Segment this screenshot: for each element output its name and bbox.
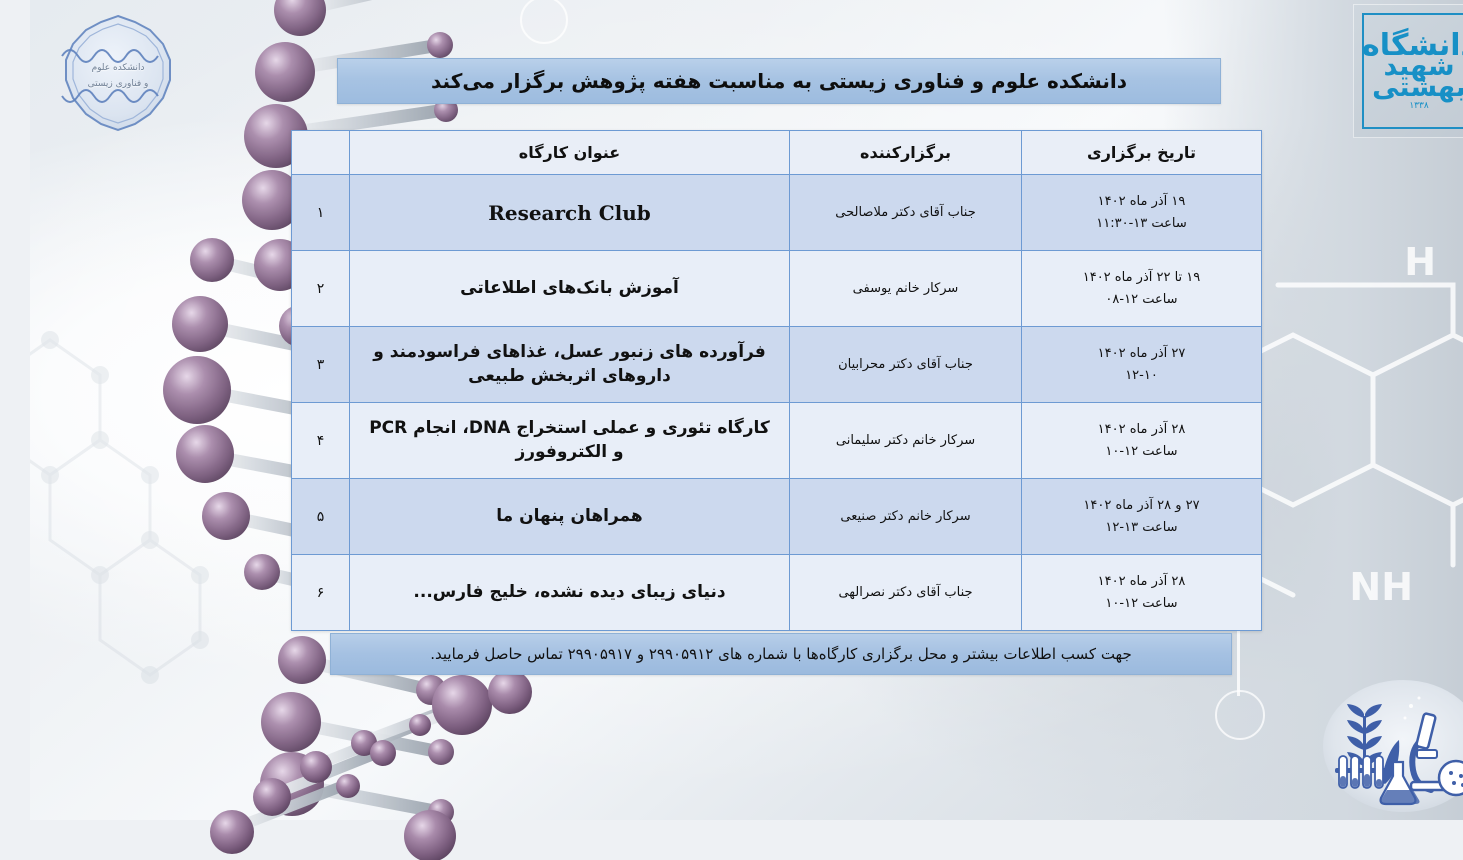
date-line-2: ساعت ۱۳-۱۱:۳۰: [1000, 213, 1223, 234]
cell-date: ۲۷ آذر ماه ۱۴۰۲ ۱۲-۱۰: [992, 327, 1232, 403]
faculty-seal-text: دانشکده علوم و فناوری زیستی: [14, 10, 162, 142]
cell-index: ۳: [262, 327, 320, 403]
contact-footer-banner: جهت کسب اطلاعات بیشتر و محل برگزاری کارگ…: [300, 633, 1202, 675]
cell-date: ۱۹ آذر ماه ۱۴۰۲ ساعت ۱۳-۱۱:۳۰: [992, 175, 1232, 251]
cell-date: ۲۷ و ۲۸ آذر ماه ۱۴۰۲ ساعت ۱۳-۱۲: [992, 479, 1232, 555]
column-header-date: تاریخ برگزاری: [992, 131, 1232, 175]
svg-text:NH: NH: [1319, 565, 1383, 609]
contact-footer-text: جهت کسب اطلاعات بیشتر و محل برگزاری کارگ…: [400, 645, 1102, 663]
cell-organizer: جناب آقای دکتر محرابیان: [760, 327, 992, 403]
cell-organizer: جناب آقای دکتر نصرالهی: [760, 555, 992, 631]
cell-organizer: جناب آقای دکتر ملاصالحی: [760, 175, 992, 251]
table-row: ۲۸ آذر ماه ۱۴۰۲ ساعت ۱۲-۱۰ سرکار خانم دک…: [262, 403, 1232, 479]
column-header-index: [262, 131, 320, 175]
table-row: ۲۸ آذر ماه ۱۴۰۲ ساعت ۱۲-۱۰ جناب آقای دکت…: [262, 555, 1232, 631]
title-banner-text: دانشکده علوم و فناوری زیستی به مناسبت هف…: [401, 69, 1097, 93]
cell-title: دنیای زیبای دیده نشده، خلیج فارس...: [320, 555, 760, 631]
date-line-1: ۱۹ تا ۲۲ آذر ماه ۱۴۰۲: [1053, 270, 1171, 285]
cell-organizer: سرکار خانم یوسفی: [760, 251, 992, 327]
title-banner: دانشکده علوم و فناوری زیستی به مناسبت هف…: [307, 58, 1191, 104]
faint-ring-decoration: [1185, 690, 1235, 740]
workshop-schedule-table-wrapper: تاریخ برگزاری برگزارکننده عنوان کارگاه ۱…: [262, 130, 1232, 631]
date-line-2: ۱۲-۱۰: [1000, 365, 1223, 386]
faculty-seal-line2: و فناوری زیستی: [58, 79, 119, 89]
date-line-1: ۲۸ آذر ماه ۱۴۰۲: [1068, 574, 1156, 589]
date-line-1: ۲۸ آذر ماه ۱۴۰۲: [1068, 422, 1156, 437]
column-header-organizer: برگزارکننده: [760, 131, 992, 175]
university-logo: دانشگاه شهید بهشتی ۱۳۳۸: [1323, 4, 1455, 138]
university-logo-year: ۱۳۳۸: [1379, 102, 1398, 110]
cell-title: همراهان پنهان ما: [320, 479, 760, 555]
table-header-row: تاریخ برگزاری برگزارکننده عنوان کارگاه: [262, 131, 1232, 175]
cell-organizer: سرکار خانم دکتر سلیمانی: [760, 403, 992, 479]
date-line-2: ساعت ۱۲-۰۸: [1000, 289, 1223, 310]
table-row: ۲۷ آذر ماه ۱۴۰۲ ۱۲-۱۰ جناب آقای دکتر محر…: [262, 327, 1232, 403]
faculty-seal: دانشکده علوم و فناوری زیستی: [14, 10, 162, 142]
column-header-title: عنوان کارگاه: [320, 131, 760, 175]
cell-title: Research Club: [320, 175, 760, 251]
science-illustration: [1289, 678, 1457, 814]
university-logo-text: دانشگاه شهید بهشتی ۱۳۳۸: [1332, 32, 1446, 111]
cell-title: فرآورده های زنبور عسل، غذاهای فراسودمند …: [320, 327, 760, 403]
date-line-2: ساعت ۱۳-۱۲: [1000, 517, 1223, 538]
date-line-2: ساعت ۱۲-۱۰: [1000, 441, 1223, 462]
date-line-1: ۲۷ آذر ماه ۱۴۰۲: [1068, 346, 1156, 361]
cell-title: آموزش بانک‌های اطلاعاتی: [320, 251, 760, 327]
cell-index: ۱: [262, 175, 320, 251]
date-line-2: ساعت ۱۲-۱۰: [1000, 593, 1223, 614]
cell-index: ۲: [262, 251, 320, 327]
table-header: تاریخ برگزاری برگزارکننده عنوان کارگاه: [262, 131, 1232, 175]
date-line-1: ۱۹ آذر ماه ۱۴۰۲: [1068, 194, 1156, 209]
workshop-schedule-table: تاریخ برگزاری برگزارکننده عنوان کارگاه ۱…: [261, 130, 1232, 631]
cell-date: ۲۸ آذر ماه ۱۴۰۲ ساعت ۱۲-۱۰: [992, 403, 1232, 479]
date-line-1: ۲۷ و ۲۸ آذر ماه ۱۴۰۲: [1053, 498, 1169, 513]
cell-date: ۲۸ آذر ماه ۱۴۰۲ ساعت ۱۲-۱۰: [992, 555, 1232, 631]
cell-index: ۴: [262, 403, 320, 479]
cell-date: ۱۹ تا ۲۲ آذر ماه ۱۴۰۲ ساعت ۱۲-۰۸: [992, 251, 1232, 327]
cell-index: ۵: [262, 479, 320, 555]
cell-title: کارگاه تئوری و عملی استخراج DNA، انجام P…: [320, 403, 760, 479]
faculty-seal-line1: دانشکده علوم: [62, 63, 115, 73]
university-logo-line3: بهشتی: [1342, 76, 1436, 101]
table-row: ۱۹ آذر ماه ۱۴۰۲ ساعت ۱۳-۱۱:۳۰ جناب آقای …: [262, 175, 1232, 251]
table-body: ۱۹ آذر ماه ۱۴۰۲ ساعت ۱۳-۱۱:۳۰ جناب آقای …: [262, 175, 1232, 631]
university-logo-frame: دانشگاه شهید بهشتی ۱۳۳۸: [1332, 13, 1446, 129]
cell-index: ۶: [262, 555, 320, 631]
table-row: ۱۹ تا ۲۲ آذر ماه ۱۴۰۲ ساعت ۱۲-۰۸ سرکار خ…: [262, 251, 1232, 327]
svg-text:H: H: [1374, 240, 1406, 284]
table-row: ۲۷ و ۲۸ آذر ماه ۱۴۰۲ ساعت ۱۳-۱۲ سرکار خا…: [262, 479, 1232, 555]
cell-organizer: سرکار خانم دکتر صنیعی: [760, 479, 992, 555]
